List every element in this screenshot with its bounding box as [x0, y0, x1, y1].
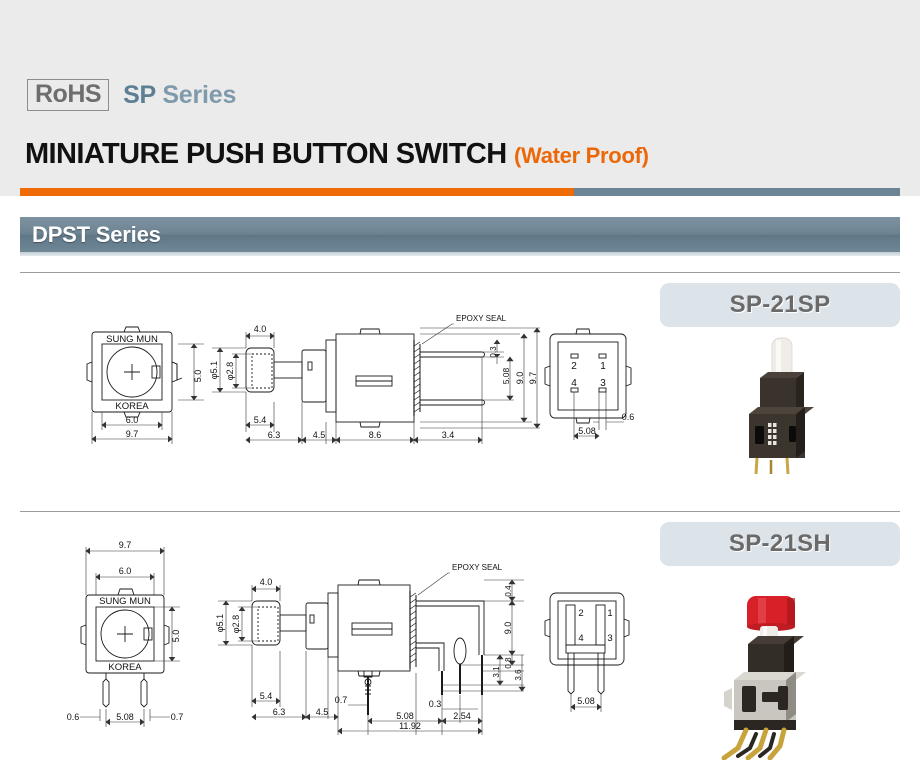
accent-bar-slate — [574, 188, 900, 196]
drawing-sp21sh: SUNG MUN KOREA 9.7 6.0 5.0 0.6 0.7 5.08 — [60, 533, 680, 768]
dim-5-08: 5.08 — [578, 426, 596, 436]
drawing-sp21sp-svg: SUNG MUN KOREA 5.0 6.0 9.7 — [60, 310, 660, 470]
dim-4-0: 4.0 — [254, 324, 267, 334]
rohs-series-row: RoHS SP Series — [27, 79, 236, 111]
drawing-sp21sh-svg: SUNG MUN KOREA 9.7 6.0 5.0 0.6 0.7 5.08 — [60, 533, 680, 768]
section-bar-underline — [20, 252, 900, 256]
terminal-2: 2 — [578, 608, 583, 619]
terminal-1: 1 — [600, 361, 606, 372]
dim-5-08: 5.08 — [396, 711, 414, 721]
dim-0-6: 0.6 — [67, 712, 80, 722]
series-title: SP Series — [123, 81, 236, 110]
accent-bar-orange — [20, 188, 574, 196]
part-number-label: SP-21SH — [729, 530, 831, 558]
brand-top-text: SUNG MUN — [99, 596, 151, 607]
brand-bottom-text: KOREA — [115, 401, 149, 412]
divider-middle — [20, 511, 900, 512]
dim-phi-5-1: φ5.1 — [215, 614, 225, 632]
rohs-badge: RoHS — [27, 79, 109, 111]
dim-6-3: 6.3 — [268, 430, 281, 440]
page-title: MINIATURE PUSH BUTTON SWITCH (Water Proo… — [25, 138, 649, 171]
divider-top — [20, 272, 900, 273]
product-photo-sp21sh-svg — [712, 582, 852, 760]
series-title-bold: SP — [123, 81, 156, 109]
dim-9-7: 9.7 — [528, 372, 538, 385]
brand-top-text: SUNG MUN — [106, 334, 158, 345]
accent-bar — [20, 188, 900, 196]
side-view-sp21sp — [246, 329, 485, 427]
dim-5-0: 5.0 — [171, 630, 181, 643]
terminal-3: 3 — [607, 633, 612, 644]
dim-5-08: 5.08 — [116, 712, 134, 722]
dim-6-0: 6.0 — [126, 415, 139, 425]
bottom-view-sp21sp — [545, 329, 631, 423]
dim-phi-2-8: φ2.8 — [231, 615, 241, 633]
page-title-suffix: (Water Proof) — [514, 143, 649, 168]
dim-11-92: 11.92 — [399, 721, 421, 731]
dim-5-08: 5.08 — [577, 696, 595, 706]
terminal-4: 4 — [571, 378, 577, 389]
dim-9-0: 9.0 — [515, 372, 525, 385]
part-chip-sp21sh: SP-21SH — [660, 522, 900, 566]
brand-bottom-text: KOREA — [108, 662, 142, 673]
terminal-4: 4 — [578, 633, 583, 644]
dim-0-3: 0.3 — [489, 346, 498, 358]
dim-0-7: 0.7 — [335, 695, 348, 705]
product-photo-sp21sp — [735, 330, 830, 480]
terminal-2: 2 — [571, 361, 577, 372]
terminal-3: 3 — [600, 378, 606, 389]
dim-5-4: 5.4 — [254, 415, 267, 425]
dim-9-7: 9.7 — [126, 429, 139, 439]
dim-phi-2-8: φ2.8 — [225, 362, 235, 380]
dim-2-54: 2.54 — [453, 711, 471, 721]
bottom-view-sp21sh — [545, 593, 629, 694]
side-view-sp21sh — [252, 580, 484, 715]
dim-4-5: 4.5 — [313, 430, 326, 440]
dim-4-0: 4.0 — [260, 577, 273, 587]
dim-3-1: 3.1 — [492, 666, 501, 678]
dim-0-3: 0.3 — [429, 699, 442, 709]
section-bar: DPST Series — [20, 217, 900, 252]
dim-0-6: 0.6 — [622, 412, 635, 422]
terminal-1: 1 — [607, 608, 612, 619]
dim-5-08: 5.08 — [501, 367, 511, 384]
part-number-label: SP-21SP — [730, 291, 831, 319]
dim-4-5: 4.5 — [316, 707, 329, 717]
product-photo-sp21sh — [712, 582, 852, 765]
series-title-light: Series — [162, 81, 236, 109]
section-bar-label: DPST Series — [32, 222, 161, 248]
dim-6-3: 6.3 — [273, 707, 286, 717]
dpst-section-header: DPST Series — [20, 217, 900, 256]
drawing-sp21sp: SUNG MUN KOREA 5.0 6.0 9.7 — [60, 310, 660, 470]
epoxy-seal-note: EPOXY SEAL — [456, 314, 507, 323]
dim-6-0: 6.0 — [119, 566, 132, 576]
part-chip-sp21sp: SP-21SP — [660, 283, 900, 327]
dim-3-6: 3.6 — [514, 669, 523, 681]
epoxy-seal-note: EPOXY SEAL — [452, 563, 503, 572]
page-title-main: MINIATURE PUSH BUTTON SWITCH — [25, 138, 507, 170]
dim-0-7: 0.7 — [171, 712, 184, 722]
dim-0-8: 0.8 — [504, 657, 513, 669]
dim-3-4: 3.4 — [442, 430, 455, 440]
dim-5-4: 5.4 — [260, 691, 273, 701]
dim-phi-5-1: φ5.1 — [209, 361, 219, 379]
dim-5-0: 5.0 — [193, 370, 203, 383]
dim-0-4: 0.4 — [504, 585, 513, 597]
dim-9-0: 9.0 — [503, 622, 513, 635]
dim-9-7: 9.7 — [119, 540, 132, 550]
dim-8-6: 8.6 — [369, 430, 382, 440]
product-photo-sp21sp-svg — [735, 330, 830, 475]
